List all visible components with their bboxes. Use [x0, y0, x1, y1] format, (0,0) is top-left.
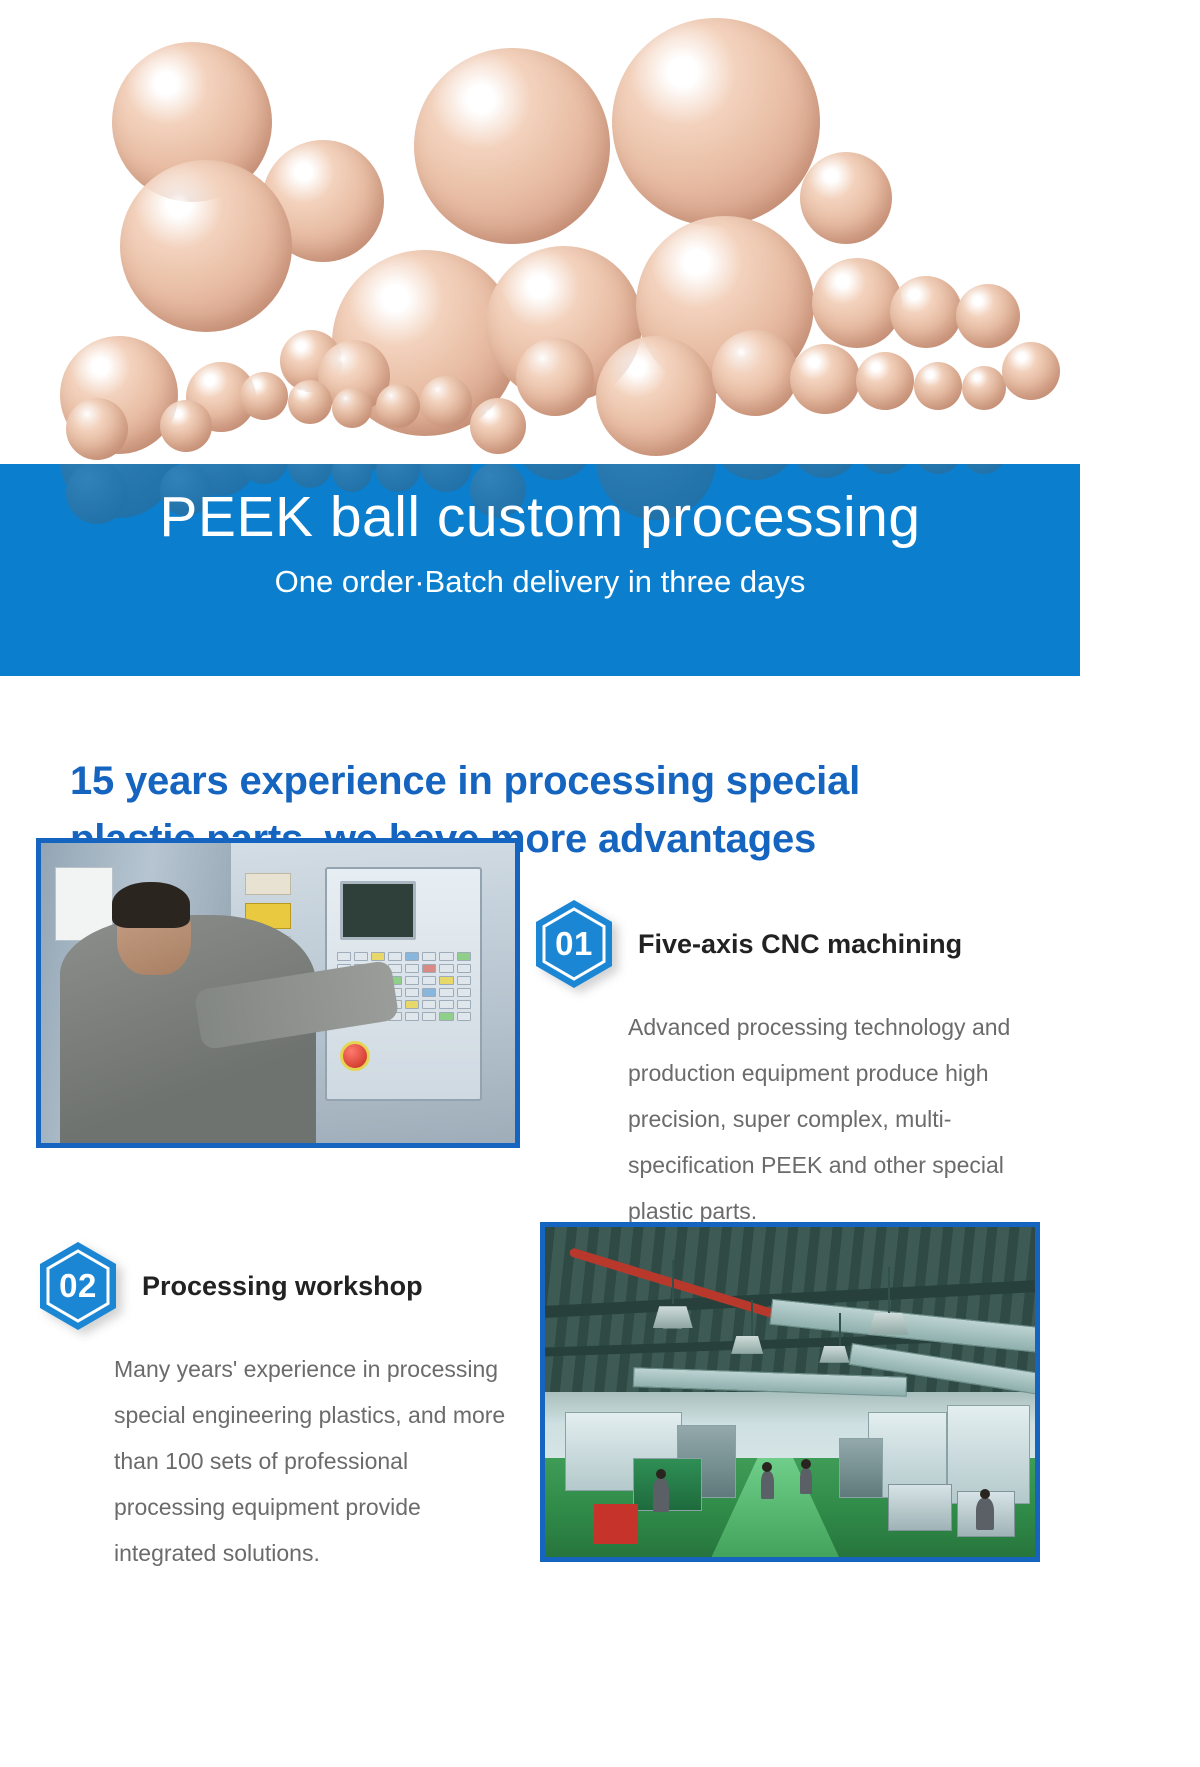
feature-block-02: 02 Processing workshop Many years' exper…: [36, 1240, 536, 1576]
feature-01-body: Advanced processing technology and produ…: [628, 1004, 1068, 1234]
hero-subtitle: One order·Batch delivery in three days: [0, 563, 1080, 601]
cnc-machine-operator-photo: [36, 838, 520, 1148]
feature-02-header: 02 Processing workshop: [36, 1240, 536, 1332]
feature-01-title: Five-axis CNC machining: [638, 927, 962, 961]
section-heading-line-1: 15 years experience in processing specia…: [70, 752, 1070, 810]
feature-01-number: 01: [532, 898, 616, 990]
feature-01-header: 01 Five-axis CNC machining: [532, 898, 1068, 990]
feature-block-01: 01 Five-axis CNC machining Advanced proc…: [532, 898, 1068, 1234]
hero-title: PEEK ball custom processing: [0, 486, 1080, 548]
hexagon-badge-icon: 01: [532, 898, 616, 990]
product-detail-page: PEEK ball custom processing One order·Ba…: [0, 0, 1200, 1767]
hexagon-badge-icon: 02: [36, 1240, 120, 1332]
hero-banner: PEEK ball custom processing One order·Ba…: [0, 0, 1080, 676]
feature-02-title: Processing workshop: [142, 1269, 423, 1303]
feature-02-number: 02: [36, 1240, 120, 1332]
feature-02-body: Many years' experience in processing spe…: [114, 1346, 519, 1576]
processing-workshop-photo: [540, 1222, 1040, 1562]
